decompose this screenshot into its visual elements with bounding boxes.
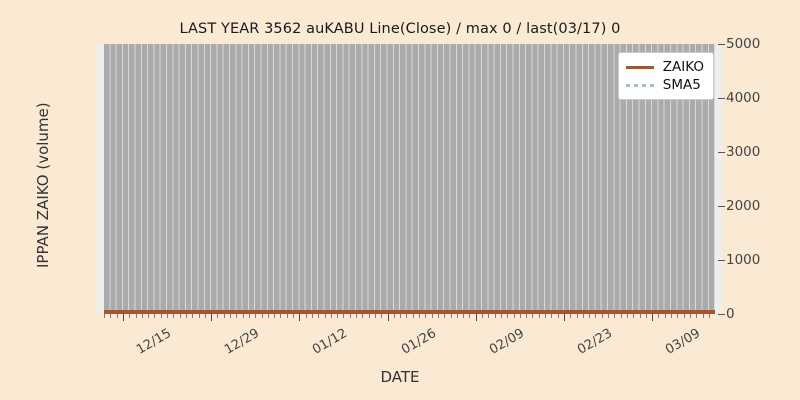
x-axis-tick-label: 01/26 xyxy=(399,326,439,358)
x-axis-minor-tick xyxy=(640,314,641,318)
x-axis-minor-tick xyxy=(539,314,540,318)
x-axis-minor-tick xyxy=(381,314,382,318)
x-axis-minor-tick xyxy=(337,314,338,318)
x-axis-minor-tick xyxy=(262,314,263,318)
x-axis-minor-tick xyxy=(570,314,571,318)
x-axis-minor-tick xyxy=(343,314,344,318)
y-axis-tick-mark xyxy=(718,44,725,45)
x-axis-minor-tick xyxy=(205,314,206,318)
x-axis-minor-tick xyxy=(551,314,552,318)
x-axis-minor-tick xyxy=(142,314,143,318)
plot-edge-band-right xyxy=(715,44,722,314)
x-axis-minor-tick xyxy=(325,314,326,318)
legend-item-zaiko[interactable]: ZAIKO xyxy=(626,58,704,76)
x-axis-minor-tick xyxy=(293,314,294,318)
x-axis-minor-tick xyxy=(199,314,200,318)
x-axis-minor-tick xyxy=(665,314,666,318)
legend-swatch-sma5-icon xyxy=(626,80,654,90)
x-axis-minor-tick xyxy=(451,314,452,318)
x-axis-minor-tick xyxy=(312,314,313,318)
x-axis-minor-tick xyxy=(444,314,445,318)
x-axis-tick-label: 02/23 xyxy=(575,326,615,358)
legend-item-sma5[interactable]: SMA5 xyxy=(626,76,704,94)
x-axis-minor-tick xyxy=(406,314,407,318)
x-axis-minor-tick xyxy=(362,314,363,318)
x-axis-minor-tick xyxy=(230,314,231,318)
x-axis-tick-label: 12/15 xyxy=(134,326,174,358)
x-axis-minor-tick xyxy=(646,314,647,318)
x-axis-minor-tick xyxy=(306,314,307,318)
x-axis-minor-tick xyxy=(413,314,414,318)
x-axis-minor-tick xyxy=(318,314,319,318)
x-axis-minor-tick xyxy=(633,314,634,318)
x-axis-minor-tick xyxy=(280,314,281,318)
x-axis-minor-tick xyxy=(677,314,678,318)
x-axis-minor-tick xyxy=(532,314,533,318)
y-axis-tick-mark xyxy=(718,206,725,207)
x-axis-minor-tick xyxy=(249,314,250,318)
x-axis-minor-tick xyxy=(274,314,275,318)
x-axis-minor-tick xyxy=(608,314,609,318)
x-axis-minor-tick xyxy=(394,314,395,318)
x-axis-minor-tick xyxy=(690,314,691,318)
x-axis-minor-tick xyxy=(167,314,168,318)
y-axis-tick-label: 5000 xyxy=(726,36,760,52)
x-axis-major-tick xyxy=(388,314,389,321)
x-axis-minor-tick xyxy=(438,314,439,318)
x-axis-minor-tick xyxy=(425,314,426,318)
x-axis-tick-label: 01/12 xyxy=(310,326,350,358)
x-axis-major-tick xyxy=(211,314,212,321)
x-axis-major-tick xyxy=(299,314,300,321)
x-axis-minor-tick xyxy=(558,314,559,318)
x-axis-label: DATE xyxy=(0,368,800,386)
x-axis-minor-tick xyxy=(709,314,710,318)
x-axis-minor-tick xyxy=(224,314,225,318)
x-axis-minor-tick xyxy=(526,314,527,318)
x-axis-major-tick xyxy=(652,314,653,321)
y-axis-label: IPPAN ZAIKO (volume) xyxy=(34,108,52,268)
x-axis-minor-tick xyxy=(356,314,357,318)
x-axis-minor-tick xyxy=(217,314,218,318)
y-axis-tick-mark xyxy=(718,314,725,315)
legend-label-sma5: SMA5 xyxy=(663,77,701,93)
x-axis-minor-tick xyxy=(495,314,496,318)
x-axis-minor-tick xyxy=(545,314,546,318)
y-axis-tick-mark xyxy=(718,260,725,261)
x-axis-minor-tick xyxy=(469,314,470,318)
x-axis-minor-tick xyxy=(621,314,622,318)
x-axis-minor-tick xyxy=(154,314,155,318)
x-axis-minor-tick xyxy=(482,314,483,318)
x-axis-minor-tick xyxy=(602,314,603,318)
x-axis-tick-label: 02/09 xyxy=(487,326,527,358)
x-axis-minor-tick xyxy=(331,314,332,318)
x-axis-minor-tick xyxy=(703,314,704,318)
x-axis-minor-tick xyxy=(589,314,590,318)
x-axis-minor-tick xyxy=(136,314,137,318)
x-axis-minor-tick xyxy=(350,314,351,318)
x-axis-minor-tick xyxy=(520,314,521,318)
series-line-zaiko xyxy=(104,310,715,314)
x-axis-minor-tick xyxy=(501,314,502,318)
x-axis-minor-tick xyxy=(104,314,105,318)
chart-title: LAST YEAR 3562 auKABU Line(Close) / max … xyxy=(0,21,800,37)
x-axis-major-tick xyxy=(476,314,477,321)
x-axis-minor-tick xyxy=(400,314,401,318)
y-axis-tick-mark xyxy=(718,98,725,99)
x-axis-minor-tick xyxy=(684,314,685,318)
x-axis-minor-tick xyxy=(180,314,181,318)
x-axis-minor-tick xyxy=(595,314,596,318)
x-axis-minor-tick xyxy=(514,314,515,318)
x-axis-minor-tick xyxy=(236,314,237,318)
x-axis-minor-tick xyxy=(110,314,111,318)
y-axis-tick-label: 1000 xyxy=(726,252,760,268)
x-axis-minor-tick xyxy=(192,314,193,318)
x-axis-minor-tick xyxy=(614,314,615,318)
x-axis-minor-tick xyxy=(161,314,162,318)
x-axis-tick-label: 03/09 xyxy=(663,326,703,358)
x-axis-major-tick xyxy=(123,314,124,321)
x-axis-minor-tick xyxy=(583,314,584,318)
legend-swatch-zaiko-icon xyxy=(626,62,654,72)
y-axis-tick-label: 4000 xyxy=(726,90,760,106)
x-axis-minor-tick xyxy=(507,314,508,318)
x-axis-minor-tick xyxy=(419,314,420,318)
x-axis-minor-tick xyxy=(243,314,244,318)
x-axis-minor-tick xyxy=(627,314,628,318)
x-axis-minor-tick xyxy=(255,314,256,318)
x-axis-minor-tick xyxy=(369,314,370,318)
legend-label-zaiko: ZAIKO xyxy=(663,59,704,75)
x-axis-minor-tick xyxy=(117,314,118,318)
x-axis-minor-tick xyxy=(658,314,659,318)
y-axis-tick-mark xyxy=(718,152,725,153)
y-axis-tick-label: 0 xyxy=(726,306,735,322)
x-axis-minor-tick xyxy=(696,314,697,318)
chart-figure: LAST YEAR 3562 auKABU Line(Close) / max … xyxy=(0,0,800,400)
y-axis-tick-label: 2000 xyxy=(726,198,760,214)
x-axis-minor-tick xyxy=(173,314,174,318)
x-axis-minor-tick xyxy=(148,314,149,318)
y-axis-tick-label: 3000 xyxy=(726,144,760,160)
x-axis-minor-tick xyxy=(186,314,187,318)
x-axis-major-tick xyxy=(564,314,565,321)
plot-edge-band-left xyxy=(97,44,104,314)
x-axis-minor-tick xyxy=(287,314,288,318)
x-axis-minor-tick xyxy=(129,314,130,318)
x-axis-minor-tick xyxy=(577,314,578,318)
x-axis-minor-tick xyxy=(463,314,464,318)
x-axis-tick-label: 12/29 xyxy=(222,326,262,358)
x-axis-minor-tick xyxy=(488,314,489,318)
x-axis-minor-tick xyxy=(671,314,672,318)
plot-area: ZAIKO SMA5 xyxy=(97,44,722,314)
x-axis-minor-tick xyxy=(432,314,433,318)
x-axis-minor-tick xyxy=(268,314,269,318)
x-axis-minor-tick xyxy=(375,314,376,318)
x-axis-minor-tick xyxy=(457,314,458,318)
chart-legend[interactable]: ZAIKO SMA5 xyxy=(618,52,714,100)
